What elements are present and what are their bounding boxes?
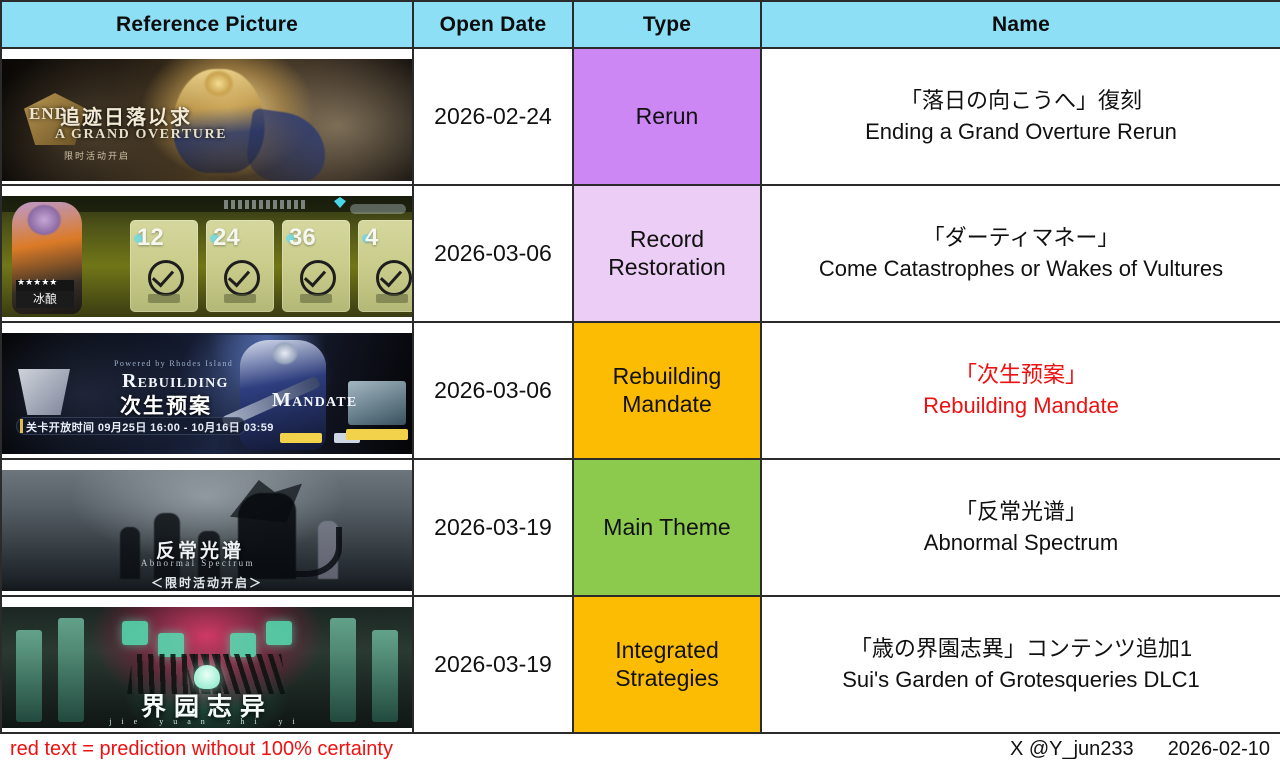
banner-image-suis-garden-of-grotesqueries: 界园志异 jie yuan zhi yi bbox=[2, 607, 412, 728]
banner-title-en-part2: Mandate bbox=[272, 389, 357, 412]
cape-shape bbox=[244, 108, 331, 181]
open-date-cell: 2026-03-06 bbox=[413, 185, 573, 322]
reward-card: 24 bbox=[206, 220, 274, 312]
banner-image-come-catastrophes-or-wakes-of-vultures: 冰酿 12 24 bbox=[2, 196, 412, 317]
banner-fine-print: 限时活动开启 bbox=[64, 149, 130, 162]
type-cell: Rerun bbox=[573, 48, 761, 185]
reference-picture-cell: Powered by Rhodes Island Rebuilding 次生预案… bbox=[1, 322, 413, 459]
name-english: Ending a Grand Overture Rerun bbox=[762, 117, 1280, 147]
character-name-label: 冰酿 bbox=[16, 291, 74, 308]
topbar-chip bbox=[350, 204, 406, 214]
pillar bbox=[330, 618, 356, 722]
open-date-cell: 2026-03-19 bbox=[413, 596, 573, 733]
reward-card: 36 bbox=[282, 220, 350, 312]
table-row: END 追迹日落以求 A GRAND OVERTURE 限时活动开启 2026-… bbox=[1, 48, 1280, 185]
banner-tag bbox=[280, 433, 322, 443]
topbar-text-blur bbox=[224, 200, 306, 209]
open-date-cell: 2026-03-19 bbox=[413, 459, 573, 596]
banner-subtitle: ＜限时活动开启＞ bbox=[151, 574, 263, 591]
reward-quantity: 24 bbox=[213, 224, 240, 252]
name-english: Sui's Garden of Grotesqueries DLC1 bbox=[762, 665, 1280, 695]
banner-title-cn: 追迹日落以求 bbox=[60, 101, 192, 130]
claimed-badge bbox=[224, 294, 256, 303]
banner-powered-by: Powered by Rhodes Island bbox=[114, 359, 233, 368]
table-header: Reference Picture Open Date Type Name bbox=[1, 1, 1280, 48]
reward-quantity: 36 bbox=[289, 224, 316, 252]
name-native: 「次生预案」 bbox=[762, 360, 1280, 390]
type-label-line2: Strategies bbox=[574, 665, 760, 692]
silhouette bbox=[120, 527, 140, 579]
reward-card: 4 bbox=[358, 220, 412, 312]
name-english: Abnormal Spectrum bbox=[762, 528, 1280, 558]
header-row: Reference Picture Open Date Type Name bbox=[1, 1, 1280, 48]
open-date-cell: 2026-03-06 bbox=[413, 322, 573, 459]
name-cell: 「落日の向こうへ」復刻 Ending a Grand Overture Reru… bbox=[761, 48, 1280, 185]
open-date-cell: 2026-02-24 bbox=[413, 48, 573, 185]
glowing-panel bbox=[122, 621, 148, 645]
table-row: 冰酿 12 24 bbox=[1, 185, 1280, 322]
type-cell: Rebuilding Mandate bbox=[573, 322, 761, 459]
type-label-line1: Integrated bbox=[574, 637, 760, 664]
reference-picture-cell: 反常光谱 Abnormal Spectrum ＜限时活动开启＞ bbox=[1, 459, 413, 596]
type-label-line1: Rerun bbox=[574, 103, 760, 130]
pillar bbox=[372, 630, 398, 722]
name-cell: 「ダーティマネー」 Come Catastrophes or Wakes of … bbox=[761, 185, 1280, 322]
reference-picture-cell: END 追迹日落以求 A GRAND OVERTURE 限时活动开启 bbox=[1, 48, 413, 185]
check-icon bbox=[224, 260, 260, 296]
name-native: 「落日の向こうへ」復刻 bbox=[762, 86, 1280, 116]
type-cell: Integrated Strategies bbox=[573, 596, 761, 733]
rarity-stars bbox=[16, 280, 74, 291]
claimed-badge bbox=[300, 294, 332, 303]
column-header-name: Name bbox=[761, 1, 1280, 48]
banner-image-rebuilding-mandate: Powered by Rhodes Island Rebuilding 次生预案… bbox=[2, 333, 412, 454]
footer: red text = prediction without 100% certa… bbox=[0, 734, 1280, 765]
table-row: 界园志异 jie yuan zhi yi 2026-03-19 Integrat… bbox=[1, 596, 1280, 733]
legend-note: red text = prediction without 100% certa… bbox=[10, 738, 393, 761]
reward-quantity: 12 bbox=[137, 224, 164, 252]
check-icon bbox=[376, 260, 412, 296]
check-icon bbox=[148, 260, 184, 296]
claimed-badge bbox=[376, 294, 408, 303]
glowing-panel bbox=[266, 621, 292, 645]
type-label-line1: Rebuilding bbox=[574, 363, 760, 390]
column-header-open-date: Open Date bbox=[413, 1, 573, 48]
name-english: Rebuilding Mandate bbox=[762, 391, 1280, 421]
type-label-line2: Mandate bbox=[574, 391, 760, 418]
type-label-line1: Record bbox=[574, 226, 760, 253]
banner-image-abnormal-spectrum: 反常光谱 Abnormal Spectrum ＜限时活动开启＞ bbox=[2, 470, 412, 591]
banner-time-text: 关卡开放时间 09月25日 16:00 - 10月16日 03:59 bbox=[26, 419, 274, 435]
banner-image-ending-a-grand-overture: END 追迹日落以求 A GRAND OVERTURE 限时活动开启 bbox=[2, 59, 412, 181]
banner-subtitle-en: A GRAND OVERTURE bbox=[55, 127, 227, 143]
table-body: END 追迹日落以求 A GRAND OVERTURE 限时活动开启 2026-… bbox=[1, 48, 1280, 733]
event-schedule-table: Reference Picture Open Date Type Name EN… bbox=[0, 0, 1280, 734]
crest-shape bbox=[18, 369, 70, 415]
author-handle: X @Y_jun233 bbox=[1010, 738, 1134, 761]
name-cell: 「次生预案」 Rebuilding Mandate bbox=[761, 322, 1280, 459]
footer-credits: X @Y_jun233 2026-02-10 bbox=[1010, 738, 1270, 761]
table-row: 反常光谱 Abnormal Spectrum ＜限时活动开启＞ 2026-03-… bbox=[1, 459, 1280, 596]
reward-card: 12 bbox=[130, 220, 198, 312]
name-native: 「ダーティマネー」 bbox=[762, 223, 1280, 253]
ghost-figure bbox=[194, 665, 220, 689]
type-cell: Main Theme bbox=[573, 459, 761, 596]
name-cell: 「歳の界園志異」コンテンツ追加1 Sui's Garden of Grotesq… bbox=[761, 596, 1280, 733]
name-cell: 「反常光谱」 Abnormal Spectrum bbox=[761, 459, 1280, 596]
banner-pinyin: jie yuan zhi yi bbox=[109, 717, 305, 726]
reference-picture-cell: 界园志异 jie yuan zhi yi bbox=[1, 596, 413, 733]
claimed-badge bbox=[148, 294, 180, 303]
schedule-sheet: Reference Picture Open Date Type Name EN… bbox=[0, 0, 1280, 765]
pillar bbox=[58, 618, 84, 722]
reward-quantity: 4 bbox=[365, 224, 378, 252]
reference-picture-cell: 冰酿 12 24 bbox=[1, 185, 413, 322]
time-bar-tick bbox=[20, 419, 23, 433]
published-date: 2026-02-10 bbox=[1168, 738, 1270, 761]
type-label-line1: Main Theme bbox=[574, 514, 760, 541]
table-row: Powered by Rhodes Island Rebuilding 次生预案… bbox=[1, 322, 1280, 459]
banner-title-cn: 次生预案 bbox=[120, 390, 212, 420]
column-header-type: Type bbox=[573, 1, 761, 48]
name-native: 「反常光谱」 bbox=[762, 497, 1280, 527]
column-header-reference-picture: Reference Picture bbox=[1, 1, 413, 48]
type-label-line2: Restoration bbox=[574, 254, 760, 281]
check-icon bbox=[300, 260, 336, 296]
pillar bbox=[16, 630, 42, 722]
banner-tag bbox=[346, 429, 408, 440]
name-native: 「歳の界園志異」コンテンツ追加1 bbox=[762, 634, 1280, 664]
banner-title-en: Abnormal Spectrum bbox=[141, 558, 255, 568]
type-cell: Record Restoration bbox=[573, 185, 761, 322]
name-english: Come Catastrophes or Wakes of Vultures bbox=[762, 254, 1280, 284]
